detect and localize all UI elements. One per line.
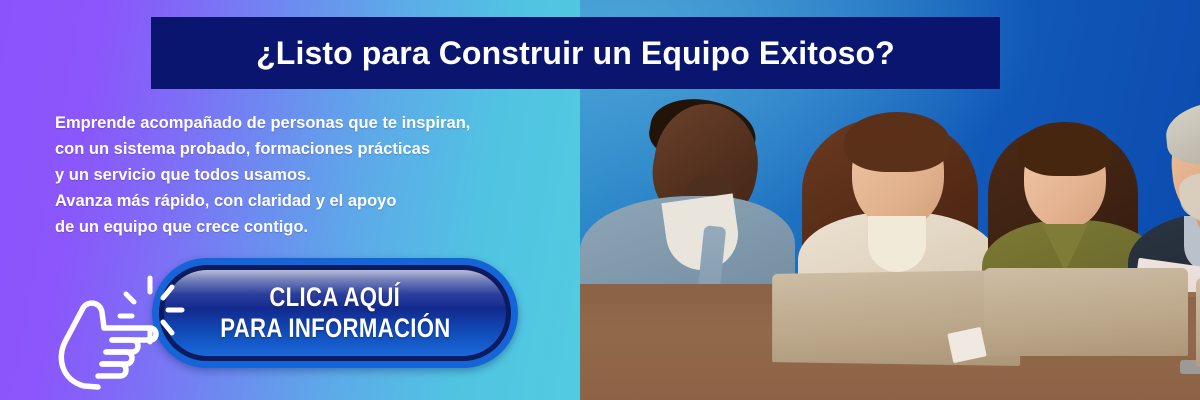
- cta-label-line-2: PARA INFORMACIÓN: [220, 313, 450, 344]
- laptop-3-lid: [1196, 278, 1200, 366]
- cta-inner-bezel: CLICA AQUÍ PARA INFORMACIÓN: [159, 265, 511, 361]
- pointing-hand-icon: [46, 286, 168, 392]
- body-copy-line-5: de un equipo que crece contigo.: [55, 214, 470, 240]
- person-2-hair-top: [844, 112, 950, 172]
- body-copy-line-4: Avanza más rápido, con claridad y el apo…: [55, 188, 470, 214]
- person-2-collar: [868, 216, 926, 272]
- headline-bar: ¿Listo para Construir un Equipo Exitoso?: [151, 17, 1000, 89]
- headline-text: ¿Listo para Construir un Equipo Exitoso?: [256, 35, 895, 72]
- body-copy-line-3: y un servicio que todos usamos.: [55, 162, 470, 188]
- person-3-hair-top: [1018, 122, 1112, 176]
- body-copy: Emprende acompañado de personas que te i…: [55, 110, 470, 240]
- cta-face: CLICA AQUÍ PARA INFORMACIÓN: [164, 270, 506, 356]
- body-copy-line-2: con un sistema probado, formaciones prác…: [55, 136, 470, 162]
- promo-banner: ¿Listo para Construir un Equipo Exitoso?…: [0, 0, 1200, 400]
- laptop-2-lid: [984, 268, 1188, 356]
- cta-button[interactable]: CLICA AQUÍ PARA INFORMACIÓN: [152, 258, 518, 368]
- body-copy-line-1: Emprende acompañado de personas que te i…: [55, 110, 470, 136]
- cta-label-line-1: CLICA AQUÍ: [270, 282, 401, 313]
